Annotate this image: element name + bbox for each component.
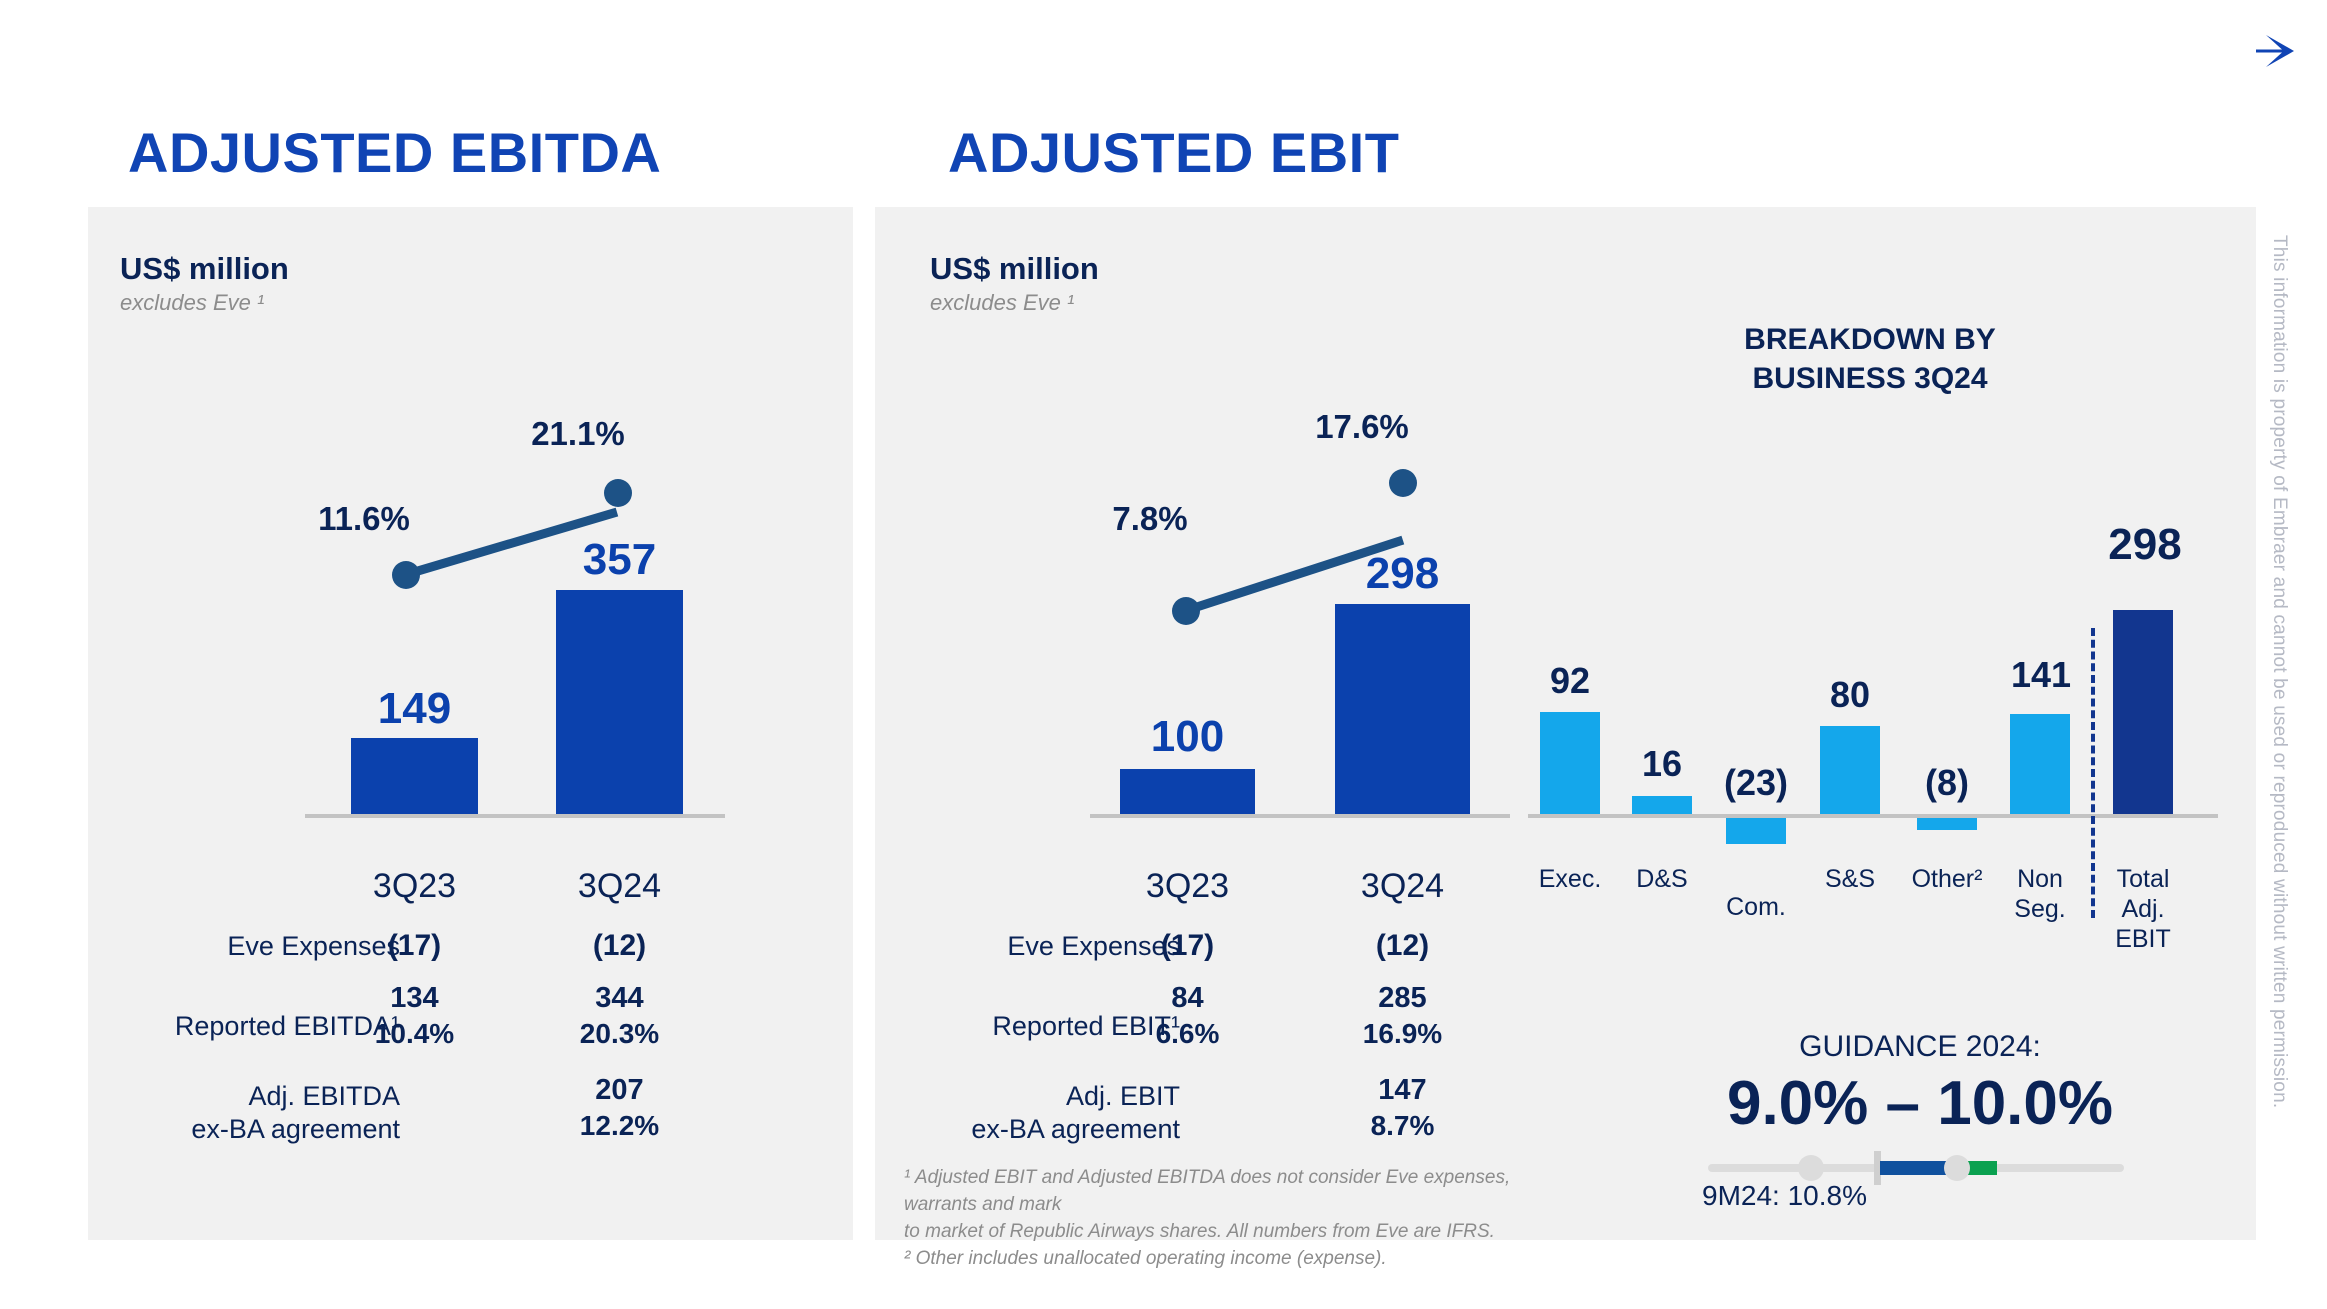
breakdown-chart-title: BREAKDOWN BY BUSINESS 3Q24 <box>1690 320 2050 398</box>
bar-ebit-3q24 <box>1335 604 1470 814</box>
ebitda-margin-dot-3q23 <box>392 561 420 589</box>
page-title-adjusted-ebitda: ADJUSTED EBITDA <box>128 120 661 185</box>
right-panel-header: US$ million excludes Eve ¹ <box>930 252 1099 316</box>
bar-ebitda-3q23 <box>351 738 478 814</box>
breakdown-baseline <box>1528 814 2218 818</box>
xcat-breakdown-nonseg: Non Seg. <box>2000 864 2080 924</box>
value-label-ebitda-3q23: 149 <box>351 684 478 734</box>
embraer-arrow-logo-icon <box>2248 30 2300 72</box>
cell-adj-ebitda-exba-3q24: 207 12.2% <box>556 1072 683 1143</box>
value-label-breakdown-ds: 16 <box>1622 743 1702 785</box>
bar-breakdown-exec <box>1540 712 1600 814</box>
guidance-slider-fill-green <box>1966 1161 1997 1175</box>
bar-breakdown-ss <box>1820 726 1880 814</box>
cell-reported-ebit-3q23-value: 84 <box>1120 980 1255 1016</box>
bar-breakdown-nonseg <box>2010 714 2070 814</box>
cell-reported-ebit-3q24: 285 16.9% <box>1335 980 1470 1051</box>
xcat-breakdown-other: Other² <box>1897 864 1997 894</box>
footnote-block: ¹ Adjusted EBIT and Adjusted EBITDA does… <box>904 1165 1584 1273</box>
row-label-adj-ebitda-line2: ex-BA agreement <box>130 1113 400 1146</box>
cell-reported-ebitda-3q24-value: 344 <box>556 980 683 1016</box>
cell-adj-ebitda-exba-3q24-pct: 12.2% <box>556 1108 683 1143</box>
slide-root: ADJUSTED EBITDA ADJUSTED EBIT US$ millio… <box>0 0 2327 1309</box>
breakdown-separator-dashline <box>2091 628 2095 918</box>
right-excludes-eve-note: excludes Eve ¹ <box>930 290 1099 316</box>
xcat-breakdown-total-line1: Total <box>2103 864 2183 894</box>
left-panel-header: US$ million excludes Eve ¹ <box>120 252 289 316</box>
xcat-breakdown-ds: D&S <box>1622 864 1702 894</box>
xcat-breakdown-com: Com. <box>1716 892 1796 922</box>
ebit-margin-dot-3q23 <box>1172 597 1200 625</box>
bar-breakdown-other <box>1917 818 1977 830</box>
bar-ebitda-3q24 <box>556 590 683 814</box>
cell-reported-ebitda-3q23-pct: 10.4% <box>351 1016 478 1051</box>
cell-reported-ebit-3q24-value: 285 <box>1335 980 1470 1016</box>
value-label-breakdown-total: 298 <box>2100 520 2190 570</box>
xcat-ebit-3q23: 3Q23 <box>1120 867 1255 906</box>
cell-reported-ebitda-3q23-value: 134 <box>351 980 478 1016</box>
cell-adj-ebitda-exba-3q24-value: 207 <box>556 1072 683 1108</box>
breakdown-title-line1: BREAKDOWN BY <box>1690 320 2050 359</box>
cell-eve-expenses-ebitda-3q23: (17) <box>351 927 478 965</box>
copyright-notice: This information is property of Embraer … <box>2268 235 2290 1108</box>
value-label-breakdown-nonseg: 141 <box>1998 654 2084 696</box>
guidance-slider-knob-left[interactable] <box>1798 1155 1824 1181</box>
xcat-breakdown-exec: Exec. <box>1530 864 1610 894</box>
value-label-breakdown-ss: 80 <box>1810 674 1890 716</box>
footnote-line-3: ² Other includes unallocated operating i… <box>904 1246 1584 1273</box>
xcat-breakdown-total: Total Adj. EBIT <box>2103 864 2183 954</box>
bar-ebit-3q23 <box>1120 769 1255 814</box>
xcat-breakdown-total-line2: Adj. <box>2103 894 2183 924</box>
row-label-adj-ebit-line2: ex-BA agreement <box>915 1113 1180 1146</box>
cell-reported-ebitda-3q23: 134 10.4% <box>351 980 478 1051</box>
row-label-adj-ebit-exba: Adj. EBIT ex-BA agreement <box>915 1080 1180 1146</box>
guidance-label: GUIDANCE 2024: <box>1700 1030 2140 1064</box>
pct-label-ebit-3q24: 17.6% <box>1287 408 1437 446</box>
page-title-adjusted-ebit: ADJUSTED EBIT <box>948 120 1399 185</box>
value-label-ebitda-3q24: 357 <box>556 535 683 585</box>
xcat-breakdown-nonseg-line1: Non <box>2000 864 2080 894</box>
guidance-slider-knob-right[interactable] <box>1944 1155 1970 1181</box>
cell-adj-ebit-exba-3q24: 147 8.7% <box>1335 1072 1470 1143</box>
xcat-breakdown-ss: S&S <box>1810 864 1890 894</box>
cell-reported-ebitda-3q24-pct: 20.3% <box>556 1016 683 1051</box>
guidance-slider-fill-blue <box>1880 1161 1952 1175</box>
cell-reported-ebit-3q24-pct: 16.9% <box>1335 1016 1470 1051</box>
bar-breakdown-total <box>2113 610 2173 814</box>
left-chart-baseline <box>305 814 725 818</box>
right-chart-baseline <box>1090 814 1510 818</box>
xcat-breakdown-nonseg-line2: Seg. <box>2000 894 2080 924</box>
cell-reported-ebitda-3q24: 344 20.3% <box>556 980 683 1051</box>
cell-eve-expenses-ebit-3q24: (12) <box>1335 927 1470 965</box>
pct-label-ebitda-3q23: 11.6% <box>294 500 434 538</box>
footnote-line-2: to market of Republic Airways shares. Al… <box>904 1219 1584 1246</box>
value-label-breakdown-other: (8) <box>1905 762 1989 804</box>
xcat-ebit-3q24: 3Q24 <box>1335 867 1470 906</box>
guidance-actual-9m24: 9M24: 10.8% <box>1702 1180 1867 1212</box>
pct-label-ebitda-3q24: 21.1% <box>503 415 653 453</box>
xcat-ebitda-3q23: 3Q23 <box>351 867 478 906</box>
row-label-adj-ebit-line1: Adj. EBIT <box>915 1080 1180 1113</box>
value-label-breakdown-exec: 92 <box>1530 660 1610 702</box>
left-excludes-eve-note: excludes Eve ¹ <box>120 290 289 316</box>
left-unit-label: US$ million <box>120 252 289 286</box>
xcat-breakdown-total-line3: EBIT <box>2103 924 2183 954</box>
row-label-adj-ebitda-line1: Adj. EBITDA <box>130 1080 400 1113</box>
bar-breakdown-ds <box>1632 796 1692 814</box>
cell-reported-ebit-3q23: 84 6.6% <box>1120 980 1255 1051</box>
cell-reported-ebit-3q23-pct: 6.6% <box>1120 1016 1255 1051</box>
right-unit-label: US$ million <box>930 252 1099 286</box>
ebit-margin-dot-3q24 <box>1389 469 1417 497</box>
cell-adj-ebit-exba-3q24-pct: 8.7% <box>1335 1108 1470 1143</box>
breakdown-title-line2: BUSINESS 3Q24 <box>1690 359 2050 398</box>
bar-breakdown-com <box>1726 818 1786 844</box>
footnote-line-1: ¹ Adjusted EBIT and Adjusted EBITDA does… <box>904 1165 1584 1219</box>
cell-eve-expenses-ebitda-3q24: (12) <box>556 927 683 965</box>
value-label-ebit-3q23: 100 <box>1120 712 1255 762</box>
cell-adj-ebit-exba-3q24-value: 147 <box>1335 1072 1470 1108</box>
xcat-ebitda-3q24: 3Q24 <box>556 867 683 906</box>
cell-eve-expenses-ebit-3q23: (17) <box>1120 927 1255 965</box>
ebitda-margin-dot-3q24 <box>604 479 632 507</box>
row-label-adj-ebitda-exba: Adj. EBITDA ex-BA agreement <box>130 1080 400 1146</box>
pct-label-ebit-3q23: 7.8% <box>1080 500 1220 538</box>
value-label-breakdown-com: (23) <box>1708 762 1804 804</box>
guidance-range-value: 9.0% – 10.0% <box>1660 1068 2180 1139</box>
